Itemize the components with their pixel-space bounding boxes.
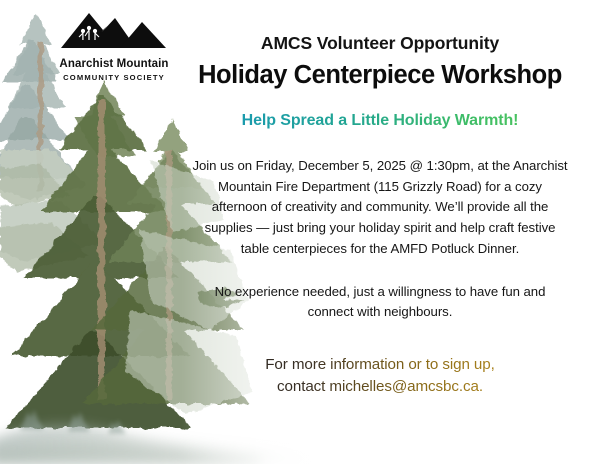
contact-line-primary: For more information or to sign up, <box>205 354 555 376</box>
poster-canvas: Anarchist Mountain COMMUNITY SOCIETY AMC… <box>0 0 600 464</box>
content-column: AMCS Volunteer Opportunity Holiday Cente… <box>180 0 580 464</box>
logo-organization-name: Anarchist Mountain <box>58 59 170 71</box>
contact-block: For more information or to sign up, cont… <box>205 323 555 397</box>
logo-organization-subtitle: COMMUNITY SOCIETY <box>58 74 170 82</box>
event-details-paragraph: Join us on Friday, December 5, 2025 @ 1:… <box>192 130 568 260</box>
mountain-flowers-icon <box>58 6 170 58</box>
no-experience-paragraph: No experience needed, just a willingness… <box>197 260 563 323</box>
contact-email-line[interactable]: contact michelles@amcsbc.ca. <box>205 376 555 398</box>
eyebrow-title: AMCS Volunteer Opportunity <box>180 0 580 54</box>
amcs-logo: Anarchist Mountain COMMUNITY SOCIETY <box>58 6 170 76</box>
subtitle-tagline: Help Spread a Little Holiday Warmth! <box>180 90 580 130</box>
page-title: Holiday Centerpiece Workshop <box>180 54 580 90</box>
